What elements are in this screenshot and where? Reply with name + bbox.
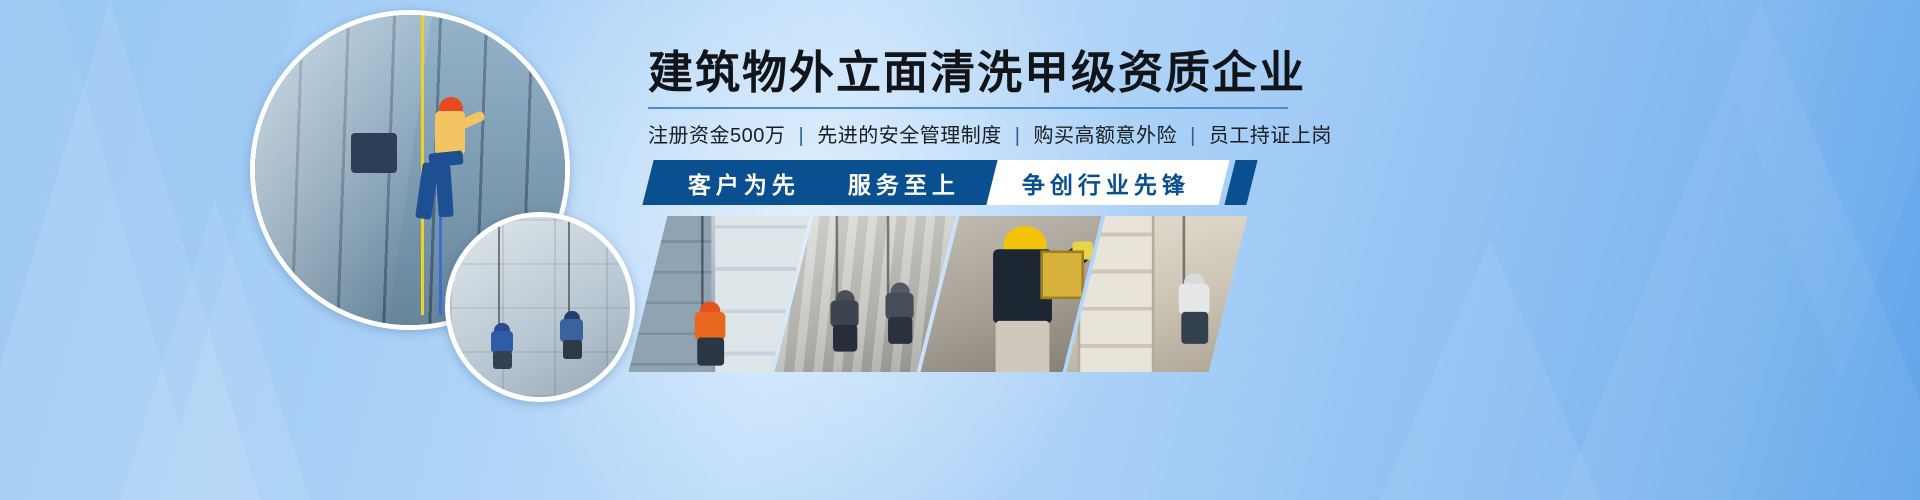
building-facade-image — [450, 217, 630, 397]
subtitle-item-1: 先进的安全管理制度 — [817, 125, 1002, 147]
headline-underline — [648, 107, 1288, 109]
worker-vest — [695, 312, 726, 340]
worker-trousers — [995, 321, 1049, 372]
rope-line-1 — [498, 217, 500, 337]
photo-rope-access-circle — [445, 212, 635, 402]
slogan-highlight: 争创行业先锋 — [986, 160, 1229, 205]
bg-triangle-6 — [1380, 240, 1600, 500]
worker-figure — [975, 226, 1085, 372]
worker-legs — [887, 317, 911, 344]
worker-legs — [563, 340, 582, 359]
slogan-primary-group: 客户为先 服务至上 — [642, 160, 999, 205]
equipment-bag — [351, 133, 397, 173]
worker-figure-left — [821, 290, 877, 354]
worker-figure — [1168, 274, 1227, 346]
worker-figure-left — [484, 323, 524, 369]
subtitle-separator-0: | — [798, 125, 804, 147]
worker-leg-right — [435, 165, 454, 218]
worker-torso — [435, 111, 465, 155]
banner-subtitle: 注册资金500万 | 先进的安全管理制度 | 购买高额意外险 | 员工持证上岗 — [648, 119, 1848, 148]
banner-headline: 建筑物外立面清洗甲级资质企业 — [648, 48, 1848, 98]
photo-strip — [648, 216, 1228, 372]
worker-figure-right — [554, 311, 594, 359]
banner-text-block: 建筑物外立面清洗甲级资质企业 注册资金500万 | 先进的安全管理制度 | 购买… — [648, 48, 1848, 148]
worker-shirt — [1178, 284, 1209, 315]
promo-banner: 建筑物外立面清洗甲级资质企业 注册资金500万 | 先进的安全管理制度 | 购买… — [0, 0, 1920, 500]
worker-torso — [830, 300, 858, 327]
subtitle-item-0: 注册资金500万 — [648, 125, 785, 147]
subtitle-item-2: 购买高额意外险 — [1034, 125, 1178, 147]
slogan-primary-0: 客户为先 — [688, 166, 800, 200]
worker-figure-right — [876, 282, 932, 346]
worker-legs — [493, 351, 512, 369]
worker-helmet-icon — [439, 97, 463, 112]
worker-legs — [1181, 312, 1208, 344]
subtitle-separator-1: | — [1015, 125, 1021, 147]
subtitle-separator-2: | — [1190, 125, 1196, 147]
slogan-primary-1: 服务至上 — [848, 166, 960, 200]
plaster-board — [1040, 250, 1084, 299]
worker-helmet-icon — [1003, 226, 1047, 250]
slogan-bar: 客户为先 服务至上 争创行业先锋 — [648, 160, 1252, 205]
slogan-highlight-text: 争创行业先锋 — [1022, 166, 1190, 200]
worker-legs — [833, 325, 857, 352]
subtitle-item-3: 员工持证上岗 — [1209, 125, 1332, 147]
worker-figure — [684, 302, 743, 369]
worker-torso — [560, 319, 583, 342]
worker-torso — [491, 331, 513, 353]
worker-torso — [885, 292, 913, 319]
worker-legs — [697, 338, 724, 366]
